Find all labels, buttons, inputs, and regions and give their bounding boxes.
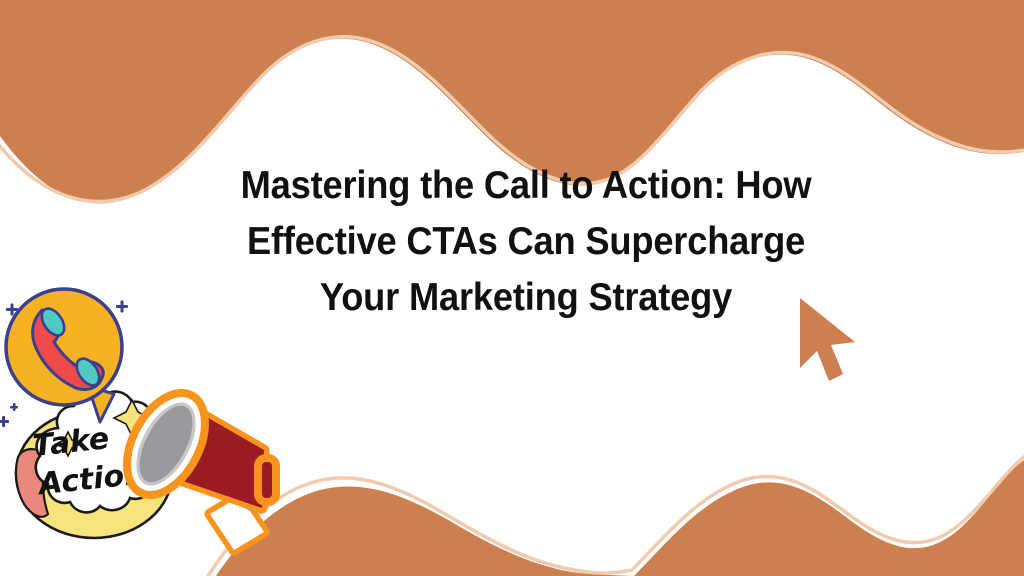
title-line-3: Your Marketing Strategy [174, 270, 877, 326]
bottom-orange-wave-main [634, 460, 1024, 576]
megaphone-back-cap [258, 458, 276, 502]
page-title: Mastering the Call to Action: How Effect… [148, 158, 904, 326]
title-line-2: Effective CTAs Can Supercharge [174, 214, 877, 270]
take-action-megaphone-illustration: Take Action! [0, 282, 316, 576]
mouse-cursor-icon [795, 296, 865, 388]
bottom-peach-line [208, 452, 1024, 576]
banner-canvas: Mastering the Call to Action: How Effect… [0, 0, 1024, 576]
title-line-1: Mastering the Call to Action: How [174, 158, 877, 214]
bottom-orange-wave [640, 462, 1024, 576]
speech-bubble [6, 289, 122, 405]
